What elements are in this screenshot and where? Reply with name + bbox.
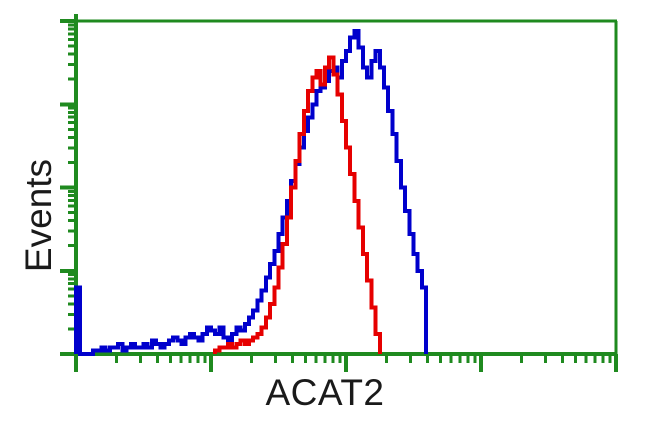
x-axis-ticks — [76, 354, 616, 372]
y-axis-label: Events — [10, 0, 68, 431]
histogram-plot — [0, 0, 650, 431]
flow-cytometry-figure: Events ACAT2 — [0, 0, 650, 431]
x-axis-label: ACAT2 — [0, 372, 650, 414]
plot-background — [75, 20, 617, 355]
